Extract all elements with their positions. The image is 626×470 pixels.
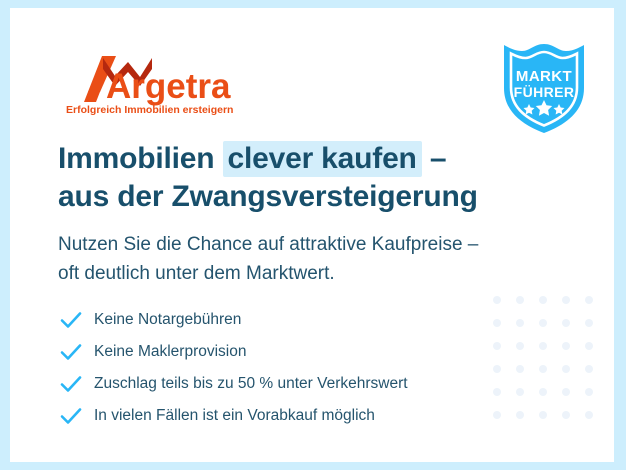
market-leader-badge: MARKT FÜHRER bbox=[496, 40, 592, 136]
decorative-dot bbox=[585, 319, 593, 327]
decorative-dot bbox=[585, 411, 593, 419]
check-icon bbox=[60, 400, 94, 431]
benefits-checklist: Keine Notargebühren Keine Maklerprovisio… bbox=[60, 304, 530, 432]
headline-highlight: clever kaufen bbox=[223, 141, 422, 177]
logo-wordmark: Argetra bbox=[106, 67, 231, 106]
page-frame: Argetra Erfolgreich Immobilien ersteiger… bbox=[0, 0, 626, 470]
list-item-label: In vielen Fällen ist ein Vorabkauf mögli… bbox=[94, 408, 375, 424]
list-item: Keine Maklerprovision bbox=[60, 336, 530, 367]
decorative-dot bbox=[562, 342, 570, 350]
subtitle-line2: oft deutlich unter dem Marktwert. bbox=[58, 263, 335, 284]
headline-line1-after: – bbox=[422, 142, 447, 175]
decorative-dot bbox=[585, 342, 593, 350]
list-item: In vielen Fällen ist ein Vorabkauf mögli… bbox=[60, 400, 530, 431]
headline-line2: aus der Zwangsversteigerung bbox=[58, 180, 478, 213]
decorative-dot bbox=[493, 296, 501, 304]
decorative-dot bbox=[539, 365, 547, 373]
decorative-dot bbox=[562, 411, 570, 419]
decorative-dot bbox=[539, 296, 547, 304]
decorative-dot bbox=[516, 296, 524, 304]
decorative-dot bbox=[539, 319, 547, 327]
check-icon bbox=[60, 304, 94, 335]
logo-tagline: Erfolgreich Immobilien ersteigern bbox=[66, 104, 233, 116]
list-item-label: Keine Maklerprovision bbox=[94, 344, 247, 360]
decorative-dot bbox=[562, 388, 570, 396]
argetra-logo[interactable]: Argetra Erfolgreich Immobilien ersteiger… bbox=[58, 46, 258, 116]
list-item: Keine Notargebühren bbox=[60, 304, 530, 335]
badge-line-2: FÜHRER bbox=[514, 84, 575, 100]
page-title: Immobilien clever kaufen – aus der Zwang… bbox=[58, 140, 578, 217]
decorative-dot bbox=[562, 319, 570, 327]
check-icon bbox=[60, 336, 94, 367]
list-item-label: Keine Notargebühren bbox=[94, 312, 241, 328]
list-item-label: Zuschlag teils bis zu 50 % unter Verkehr… bbox=[94, 376, 408, 392]
page-subtitle: Nutzen Sie die Chance auf attraktive Kau… bbox=[58, 230, 578, 289]
decorative-dot bbox=[585, 296, 593, 304]
headline-line1-before: Immobilien bbox=[58, 142, 223, 175]
subtitle-line1: Nutzen Sie die Chance auf attraktive Kau… bbox=[58, 234, 478, 255]
list-item: Zuschlag teils bis zu 50 % unter Verkehr… bbox=[60, 368, 530, 399]
decorative-dot bbox=[562, 365, 570, 373]
decorative-dot bbox=[585, 388, 593, 396]
decorative-dot bbox=[562, 296, 570, 304]
decorative-dot bbox=[585, 365, 593, 373]
decorative-dot bbox=[539, 388, 547, 396]
badge-line-1: MARKT bbox=[516, 68, 572, 85]
decorative-dot bbox=[539, 411, 547, 419]
check-icon bbox=[60, 368, 94, 399]
promo-card: Argetra Erfolgreich Immobilien ersteiger… bbox=[10, 8, 614, 462]
decorative-dot bbox=[539, 342, 547, 350]
